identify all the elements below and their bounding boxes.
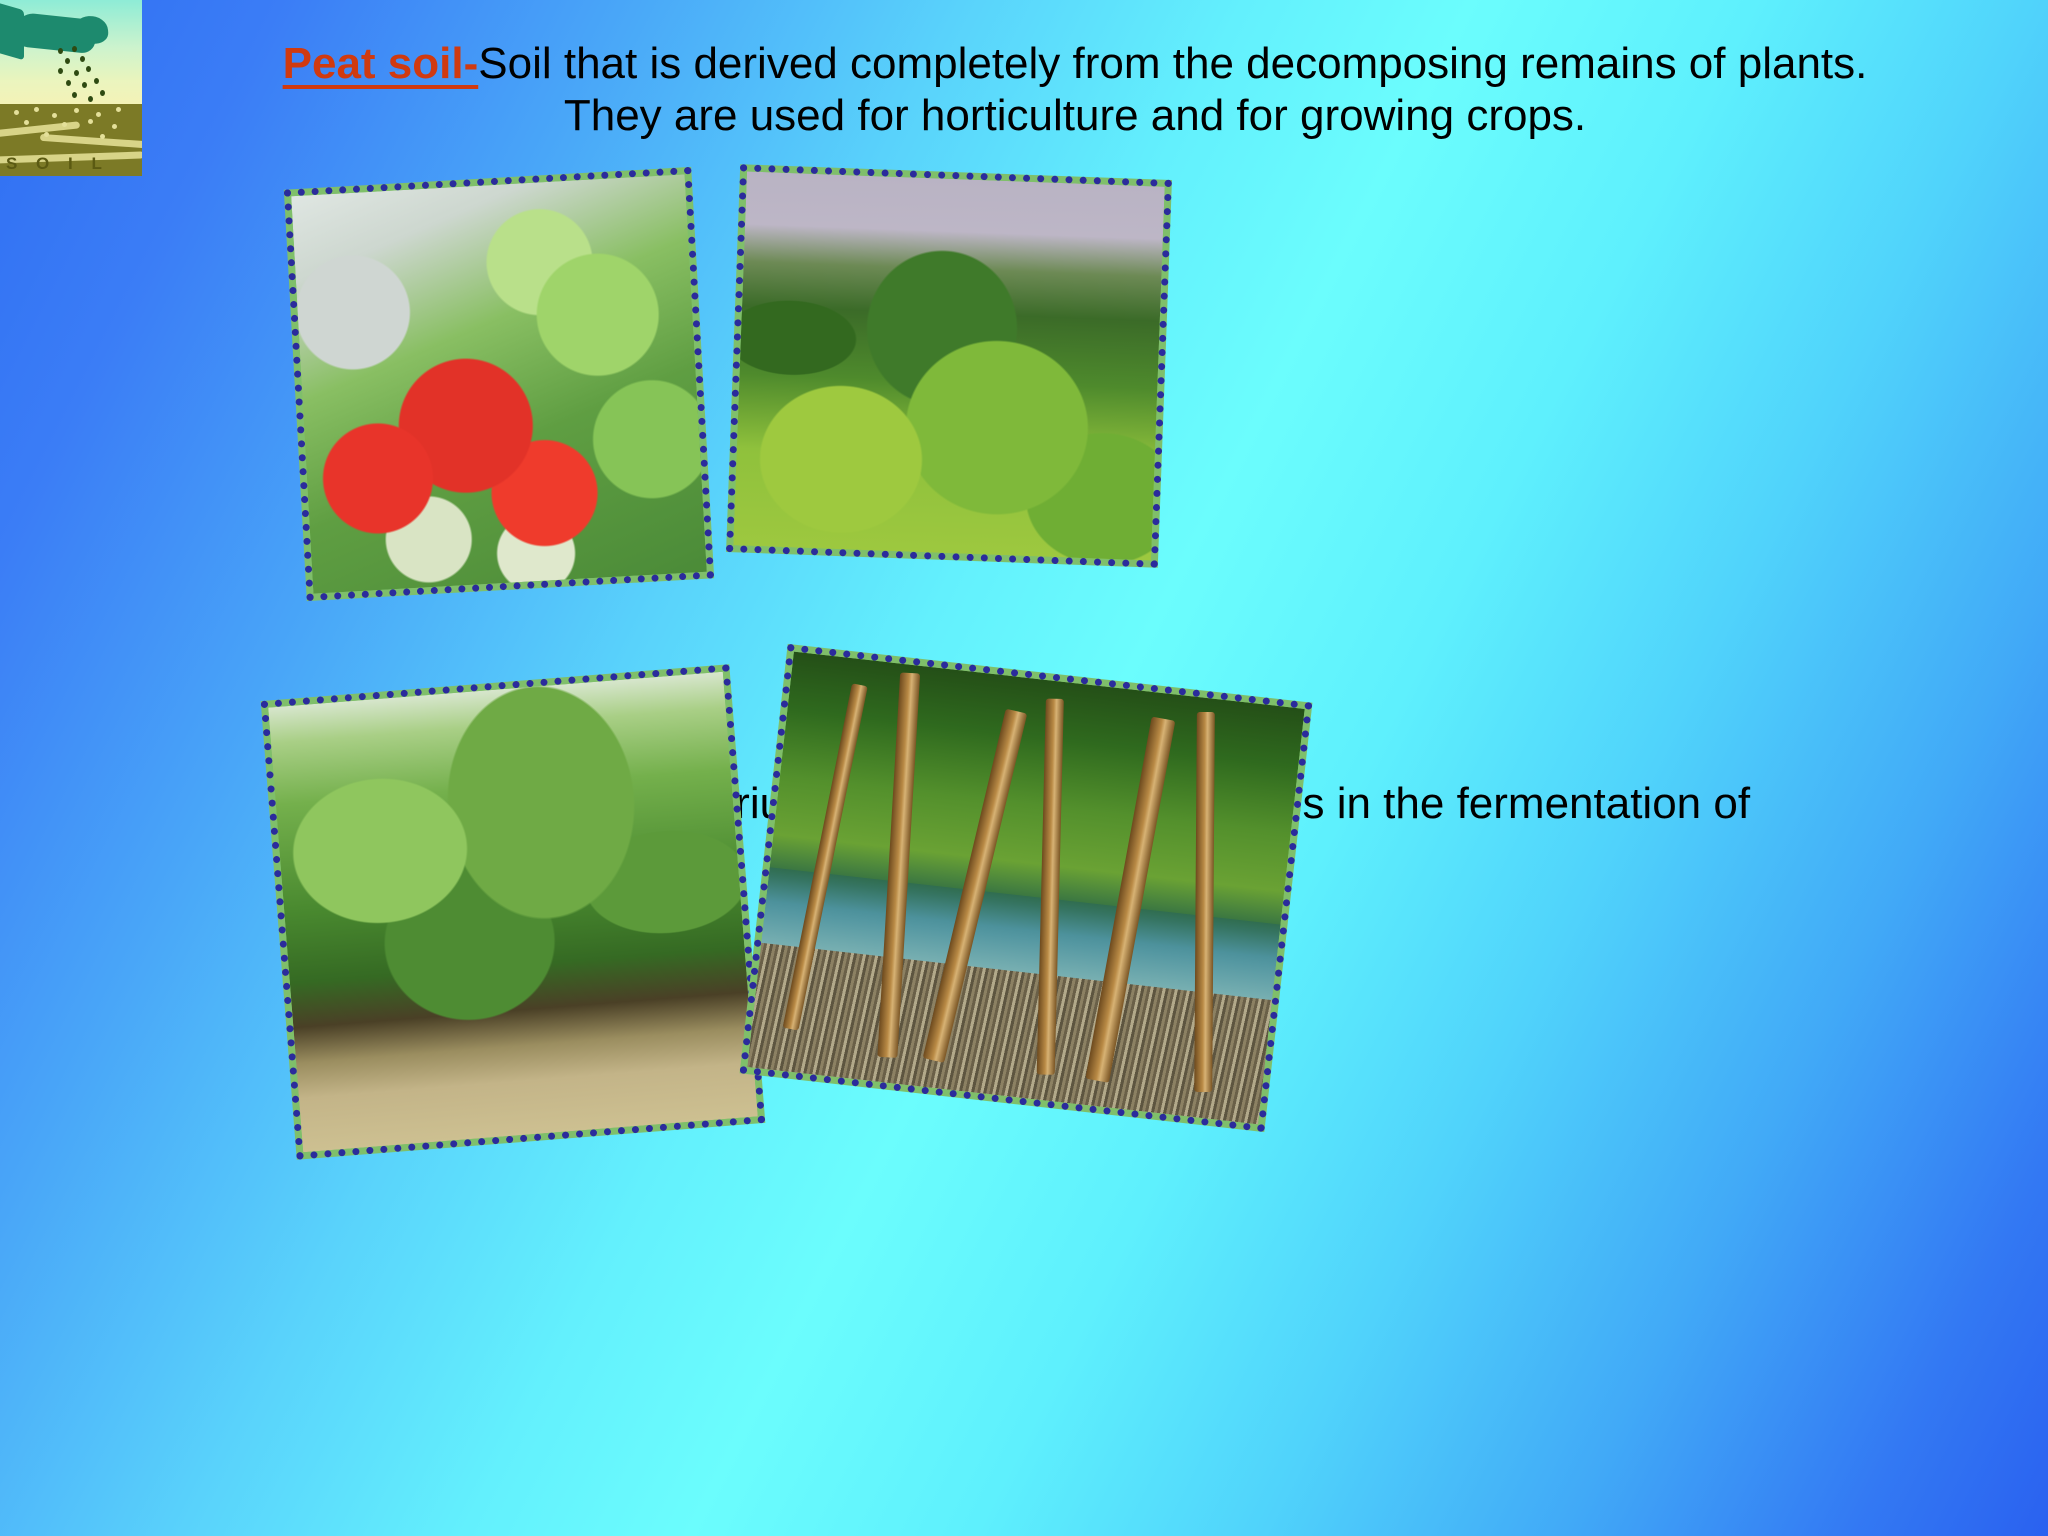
- photo-mangrove-canopy[interactable]: [726, 164, 1172, 568]
- photo-mangrove-trees-water[interactable]: [740, 644, 1313, 1132]
- peat-soil-body-line-1: Soil that is derived completely from the…: [478, 39, 1867, 88]
- photo-mangrove-shoreline[interactable]: [261, 664, 766, 1159]
- hand-fingers: [73, 15, 109, 45]
- soil-logo-label: S O I L: [6, 154, 109, 174]
- peat-soil-heading: Peat soil-: [283, 39, 479, 88]
- photo-mangrove-trees-water-image: [747, 652, 1304, 1125]
- photo-mangrove-canopy-image: [733, 171, 1164, 560]
- photo-red-flowers-image: [291, 174, 707, 593]
- photo-mangrove-shoreline-image: [268, 672, 758, 1152]
- photo-red-flowers[interactable]: [284, 167, 714, 601]
- peat-soil-text-block: Peat soil-Soil that is derived completel…: [120, 38, 2030, 142]
- slide-canvas: S O I L Peat soil-Soil that is derived c…: [0, 0, 2048, 1536]
- peat-soil-body-line-2: They are used for horticulture and for g…: [120, 90, 2030, 142]
- falling-seeds-icon: [52, 46, 112, 108]
